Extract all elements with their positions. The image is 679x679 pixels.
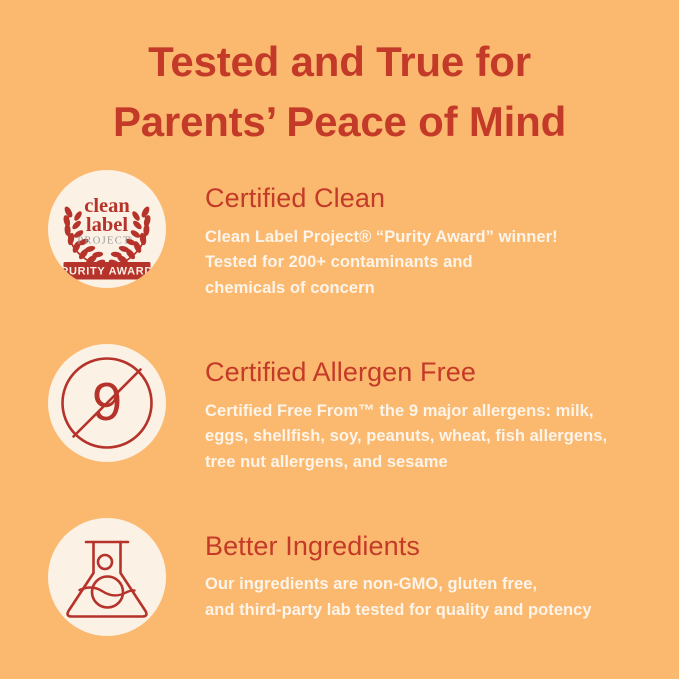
feature-description-line: and third-party lab tested for quality a… — [205, 598, 663, 624]
feature-item-certified-clean: clean label PROJECT ® PURITY AWARD Certi… — [0, 170, 679, 302]
feature-text-certified-clean: Certified Clean Clean Label Project® “Pu… — [166, 170, 679, 302]
feature-title: Certified Clean — [205, 184, 663, 214]
feature-list: clean label PROJECT ® PURITY AWARD Certi… — [0, 170, 679, 636]
feature-text-certified-allergen-free: Certified Allergen Free Certified Free F… — [166, 344, 679, 476]
feature-description-line: tree nut allergens, and sesame — [205, 450, 663, 476]
badge-word-label: label — [86, 214, 128, 236]
feature-description-line: Certified Free From™ the 9 major allerge… — [205, 399, 663, 425]
feature-title: Better Ingredients — [205, 532, 663, 562]
feature-description-line: Tested for 200+ contaminants and — [205, 250, 663, 276]
headline-line-2: Parents’ Peace of Mind — [0, 92, 679, 152]
clean-label-project-badge-icon: clean label PROJECT ® PURITY AWARD — [48, 170, 166, 288]
infographic-panel: Tested and True for Parents’ Peace of Mi… — [0, 0, 679, 679]
feature-item-certified-allergen-free: 9 Certified Allergen Free Certified Free… — [0, 344, 679, 476]
feature-title: Certified Allergen Free — [205, 358, 663, 388]
feature-description-line: chemicals of concern — [205, 276, 663, 302]
feature-description: Certified Free From™ the 9 major allerge… — [205, 399, 663, 476]
page-title: Tested and True for Parents’ Peace of Mi… — [0, 32, 679, 151]
flask-bubble-large — [92, 576, 123, 607]
feature-description: Clean Label Project® “Purity Award” winn… — [205, 225, 663, 302]
badge-ribbon-label: PURITY AWARD — [61, 266, 153, 278]
laboratory-flask-icon — [48, 518, 166, 636]
allergen-count-number: 9 — [92, 372, 122, 432]
feature-description-line: Our ingredients are non-GMO, gluten free… — [205, 572, 663, 598]
flask-liquid-line — [80, 587, 135, 595]
feature-description-line: eggs, shellfish, soy, peanuts, wheat, fi… — [205, 424, 663, 450]
feature-text-better-ingredients: Better Ingredients Our ingredients are n… — [166, 518, 679, 624]
flask-bubble-small — [98, 555, 112, 569]
flask-body — [68, 542, 147, 617]
badge-word-project: PROJECT — [77, 236, 130, 247]
headline-line-1: Tested and True for — [0, 32, 679, 92]
allergen-free-nine-icon: 9 — [48, 344, 166, 462]
feature-description-line: Clean Label Project® “Purity Award” winn… — [205, 225, 663, 251]
feature-description: Our ingredients are non-GMO, gluten free… — [205, 572, 663, 623]
badge-registered-mark: ® — [128, 235, 132, 242]
feature-item-better-ingredients: Better Ingredients Our ingredients are n… — [0, 518, 679, 636]
